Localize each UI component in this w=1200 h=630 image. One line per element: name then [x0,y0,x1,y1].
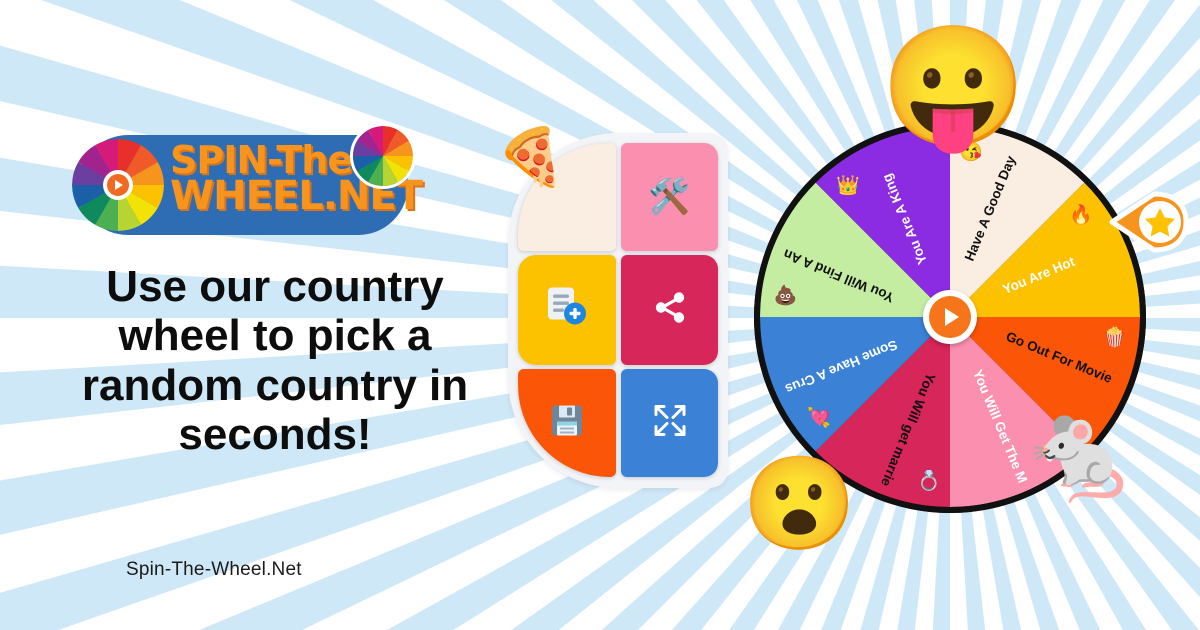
pizza-emoji: 🍕 [496,129,566,185]
color-wheel-icon [350,123,416,189]
floppy-disk-icon [548,402,586,445]
ring-icon: 💍 [917,469,941,492]
pencil-wrench-icon: 🛠️ [648,180,690,214]
spin-wheel-icon [72,139,164,231]
surprised-emoji: 😮 [742,458,857,550]
play-icon [115,180,123,190]
new-document-icon [544,286,590,335]
fire-icon: 🔥 [1069,203,1093,226]
tile-fullscreen[interactable] [621,369,718,477]
wheel-spin-button[interactable] [923,290,977,344]
site-logo[interactable]: SPIN-The- WHEEL.NET [78,135,408,235]
heart-arrow-icon: 💘 [807,406,831,429]
popcorn-icon: 🍿 [1103,325,1127,348]
page-title: Use our country wheel to pick a random c… [40,262,510,459]
crown-icon: 👑 [836,174,860,196]
tool-panel: 🍕 🛠️ [508,133,728,488]
share-icon [650,288,690,333]
star-pointer-icon [1108,190,1188,254]
tile-customize[interactable]: 🛠️ [621,143,718,251]
mouse-emoji: 🐁 [1020,404,1140,500]
fullscreen-icon [650,401,690,446]
tongue-out-emoji: 😛 [880,28,1027,146]
play-icon [945,308,959,326]
poop-icon: 💩 [773,284,797,307]
tile-share[interactable] [621,255,718,365]
logo-hub [103,170,133,200]
tile-new-wheel[interactable] [518,255,616,365]
footer-url: Spin-The-Wheel.Net [126,559,302,581]
